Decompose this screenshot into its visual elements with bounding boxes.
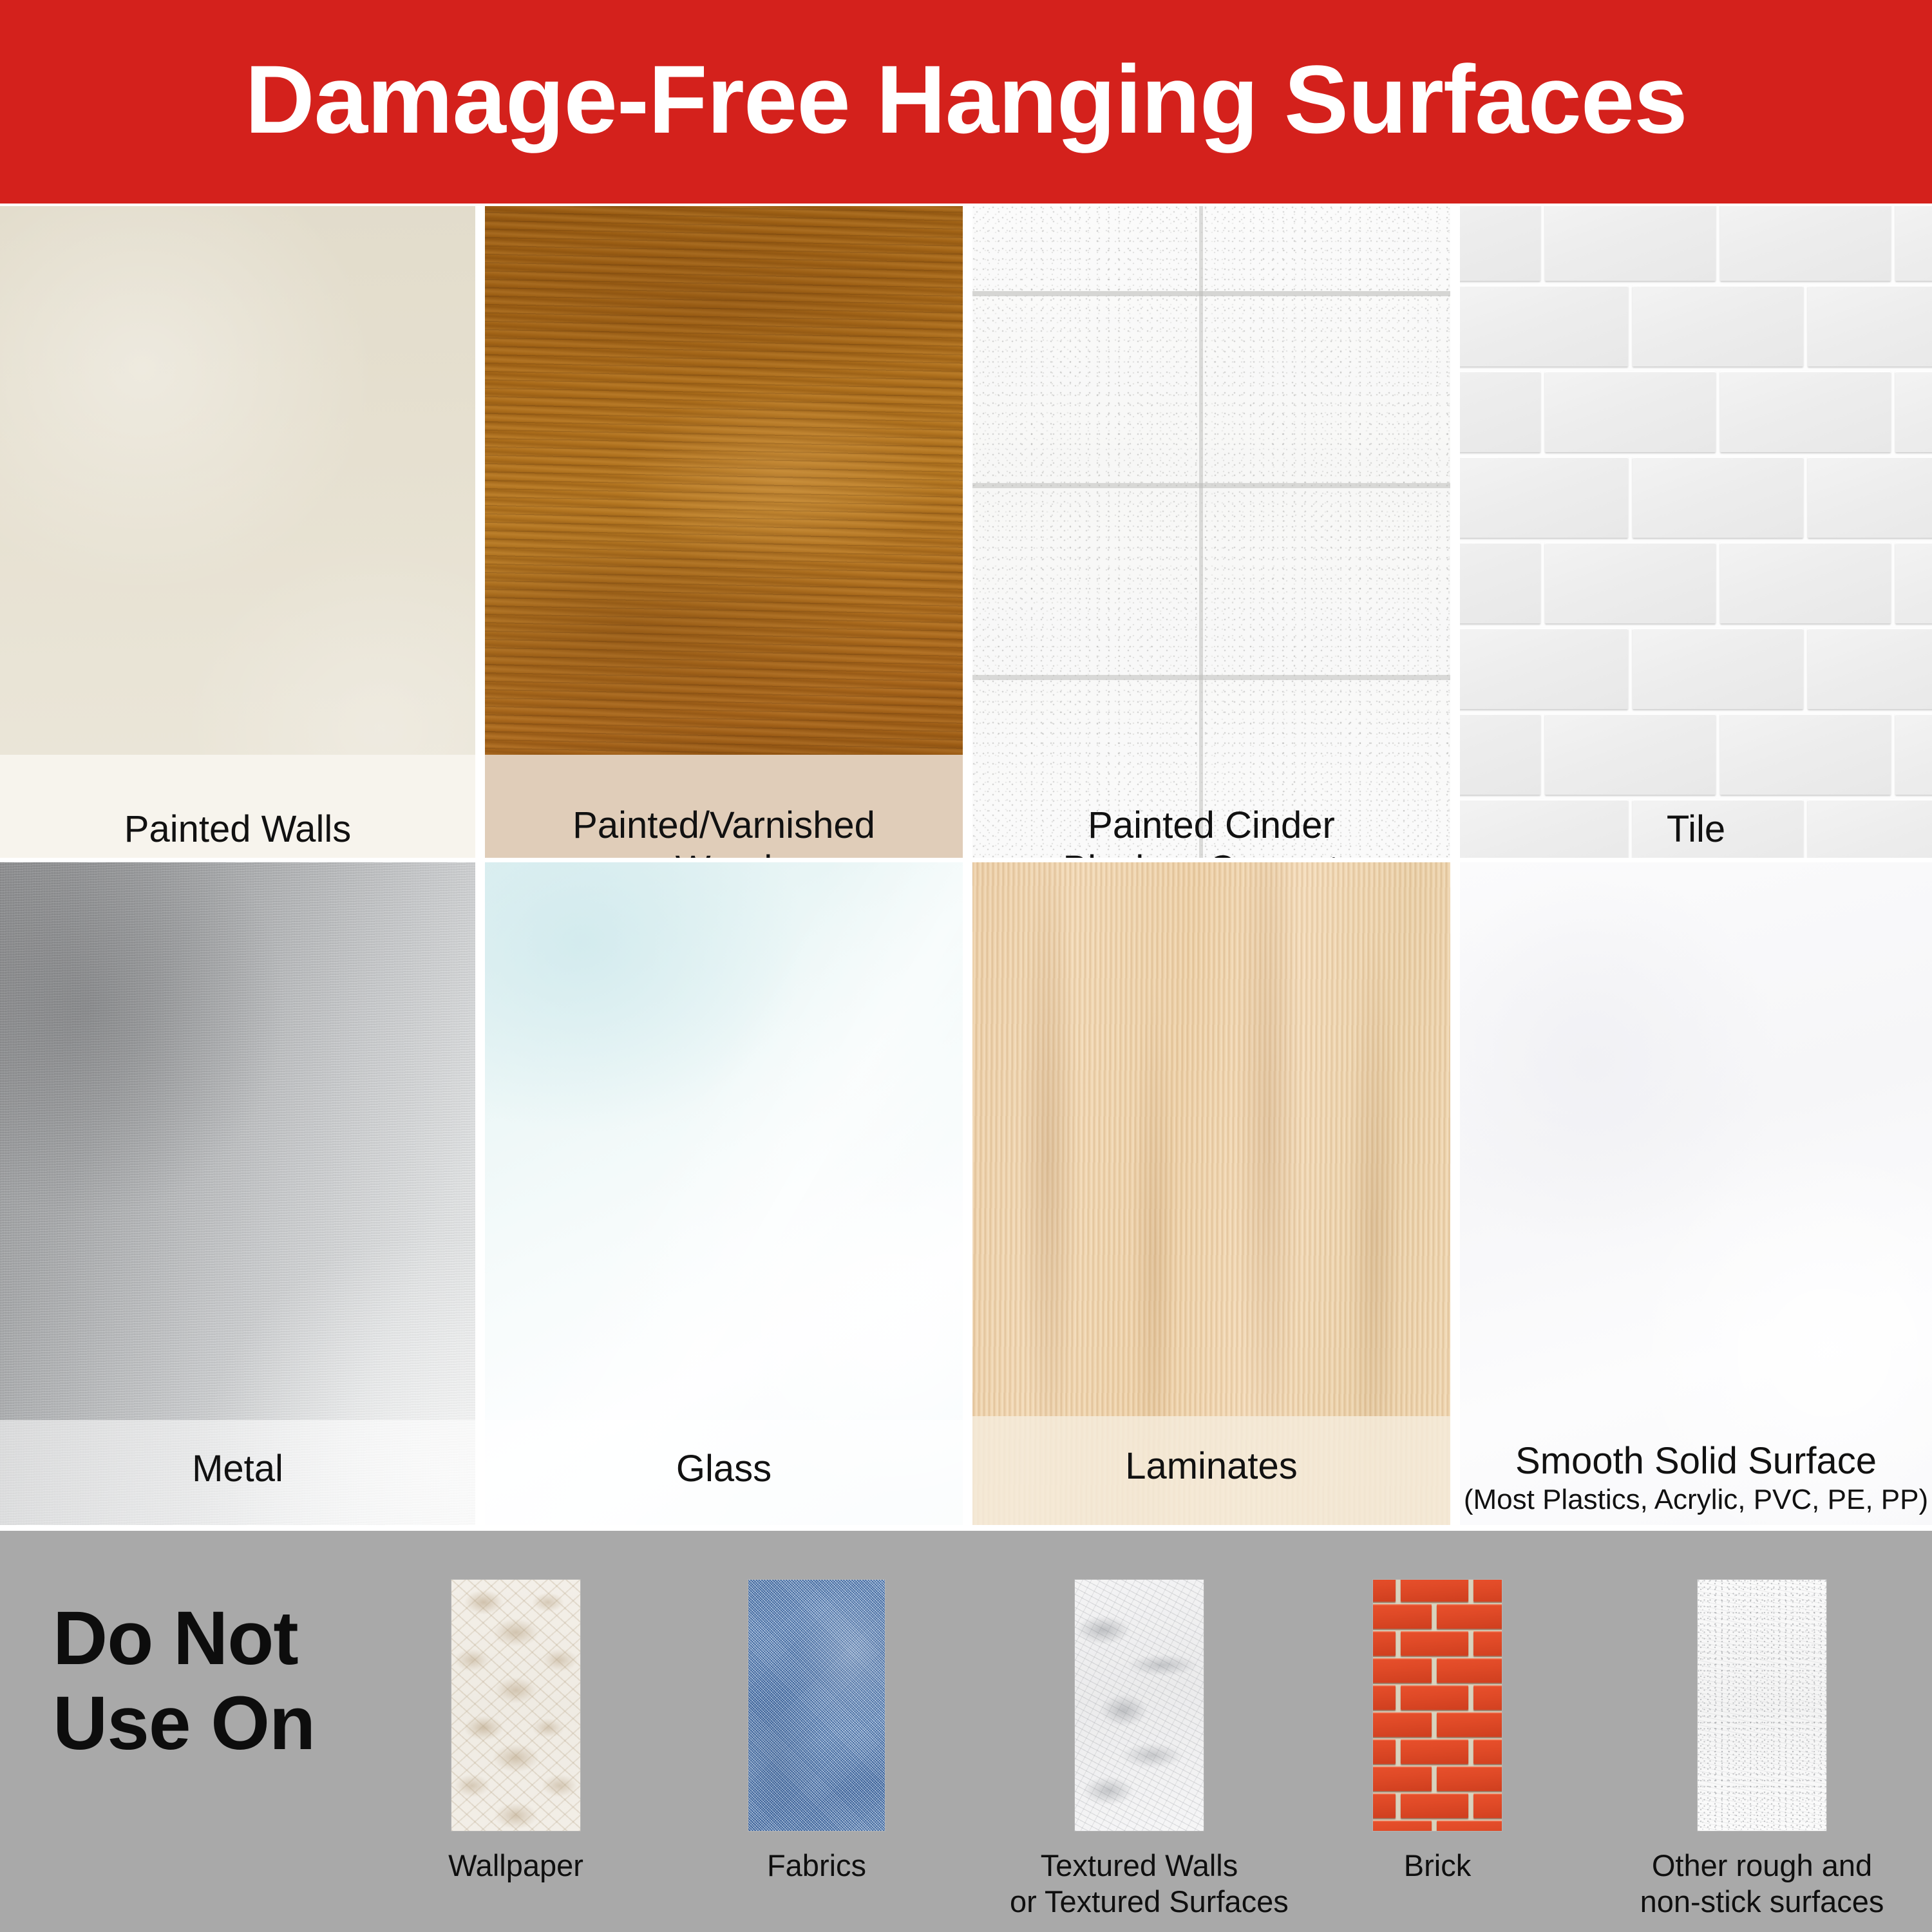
brick-unit [1401, 1794, 1468, 1818]
surface-tile-laminates: Laminates [972, 862, 1450, 1525]
brick-unit [1473, 1631, 1502, 1656]
surface-tile-painted-cinder-block: Painted Cinder Block or Concrete [972, 206, 1450, 858]
surface-label-line1: Painted/Varnished [573, 804, 875, 846]
fabrics-swatch [748, 1580, 885, 1831]
subway-tile-unit [1720, 542, 1891, 623]
brick-row [1373, 1604, 1502, 1634]
brick-unit [1401, 1739, 1468, 1764]
surface-label-line1: Smooth Solid Surface [1515, 1440, 1877, 1482]
subway-tile-unit [1720, 371, 1891, 452]
subway-tile-row [1460, 542, 1932, 627]
subway-tile-unit [1895, 206, 1932, 281]
smooth-solid-white-texture [1460, 862, 1932, 1525]
brick-unit [1473, 1580, 1502, 1602]
subway-tile-unit [1808, 628, 1932, 709]
label-line2: or Textured Surfaces [1010, 1884, 1289, 1918]
painted-cinder-block-texture [972, 206, 1450, 858]
brick-row [1373, 1794, 1502, 1823]
surface-label-line2: Block or Concrete [1063, 848, 1360, 858]
surface-label-varnished-wood: Painted/Varnished Wood [485, 804, 963, 858]
subway-tile-row [1460, 628, 1932, 713]
label-line2: non-stick surfaces [1640, 1884, 1884, 1918]
brick-unit [1373, 1821, 1432, 1831]
subway-tile-unit [1633, 285, 1803, 366]
subway-tile-unit [1460, 457, 1628, 538]
surface-label-laminates: Laminates [972, 1444, 1450, 1488]
brick-unit [1373, 1580, 1396, 1602]
surface-tile-varnished-wood: Painted/Varnished Wood [485, 206, 963, 858]
do-not-use-item-wallpaper: Wallpaper [386, 1580, 645, 1884]
denim-fabric-texture [748, 1580, 885, 1831]
do-not-use-label-brick: Brick [1306, 1848, 1569, 1884]
brick-row [1373, 1739, 1502, 1769]
subway-tile-unit [1895, 714, 1932, 795]
do-not-use-label-textured-walls: Textured Walls or Textured Surfaces [1010, 1848, 1269, 1920]
brick-unit [1373, 1685, 1396, 1710]
brick-unit [1401, 1580, 1468, 1602]
label-line1: Other rough and [1652, 1848, 1872, 1882]
rough-stipple-texture [1698, 1580, 1826, 1831]
surface-label-tile: Tile [1460, 808, 1932, 851]
page-title: Damage-Free Hanging Surfaces [245, 51, 1687, 153]
subway-tile-texture [1460, 206, 1932, 858]
subway-tile-unit [1720, 714, 1891, 795]
do-not-use-title: Do Not Use On [53, 1596, 315, 1766]
do-not-use-item-textured-walls: Textured Walls or Textured Surfaces [1010, 1580, 1269, 1920]
surface-tile-tile: Tile [1460, 206, 1932, 858]
subway-tile-row [1460, 714, 1932, 799]
brick-row [1373, 1766, 1502, 1796]
do-not-use-title-line1: Do Not [53, 1596, 298, 1681]
subway-tile-unit [1460, 714, 1540, 795]
brick-row [1373, 1631, 1502, 1661]
brick-unit [1473, 1739, 1502, 1764]
subway-tile-unit [1545, 206, 1716, 281]
do-not-use-item-rough-surfaces: Other rough and non-stick surfaces [1631, 1580, 1893, 1920]
brick-unit [1373, 1604, 1432, 1629]
subway-tile-unit [1633, 628, 1803, 709]
brick-unit [1373, 1766, 1432, 1791]
brick-row [1373, 1658, 1502, 1688]
brick-unit [1373, 1712, 1432, 1737]
brick-unit [1437, 1604, 1502, 1629]
subway-tile-unit [1460, 542, 1540, 623]
red-brick-texture [1373, 1580, 1502, 1831]
surface-label-line1: Painted Cinder [1088, 804, 1335, 846]
brick-unit [1473, 1685, 1502, 1710]
brick-unit [1373, 1739, 1396, 1764]
brick-swatch [1373, 1580, 1502, 1831]
rough-surfaces-swatch [1698, 1580, 1826, 1831]
surface-label-painted-cinder-block: Painted Cinder Block or Concrete [972, 804, 1450, 858]
subway-tile-unit [1545, 714, 1716, 795]
brick-unit [1437, 1766, 1502, 1791]
surface-label-smooth-solid-surface: Smooth Solid Surface (Most Plastics, Acr… [1460, 1439, 1932, 1517]
subway-tile-unit [1895, 371, 1932, 452]
damask-wallpaper-texture [451, 1580, 580, 1831]
subway-tile-row [1460, 371, 1932, 456]
subway-tile-unit [1808, 285, 1932, 366]
brick-unit [1373, 1631, 1396, 1656]
brick-unit [1437, 1821, 1502, 1831]
subway-tile-row [1460, 206, 1932, 285]
surface-tile-smooth-solid-surface: Smooth Solid Surface (Most Plastics, Acr… [1460, 862, 1932, 1525]
label-line1: Textured Walls [1041, 1848, 1238, 1882]
brick-row [1373, 1685, 1502, 1715]
surface-label-line2: Wood [676, 848, 772, 858]
subway-tile-unit [1460, 371, 1540, 452]
surface-sublabel: (Most Plastics, Acrylic, PVC, PE, PP) [1460, 1483, 1932, 1517]
brick-unit [1373, 1658, 1432, 1683]
subway-tile-unit [1545, 371, 1716, 452]
do-not-use-item-brick: Brick [1306, 1580, 1569, 1884]
brick-row [1373, 1821, 1502, 1831]
subway-tile-unit [1633, 457, 1803, 538]
surface-tile-glass: Glass [485, 862, 963, 1525]
subway-tile-unit [1720, 206, 1891, 281]
brick-unit [1437, 1712, 1502, 1737]
do-not-use-label-fabrics: Fabrics [684, 1848, 949, 1884]
do-not-use-title-line2: Use On [53, 1681, 315, 1766]
brick-unit [1373, 1794, 1396, 1818]
infographic-page: Damage-Free Hanging Surfaces Painted Wal… [0, 0, 1932, 1932]
subway-tile-unit [1808, 457, 1932, 538]
subway-tile-row [1460, 457, 1932, 542]
do-not-use-label-rough-surfaces: Other rough and non-stick surfaces [1631, 1848, 1893, 1920]
brick-row [1373, 1712, 1502, 1742]
header-banner: Damage-Free Hanging Surfaces [0, 0, 1932, 204]
brick-unit [1401, 1631, 1468, 1656]
surface-label-glass: Glass [485, 1447, 963, 1491]
brick-row [1373, 1580, 1502, 1607]
textured-plaster-texture [1075, 1580, 1204, 1831]
surface-tile-painted-walls: Painted Walls [0, 206, 475, 858]
brick-unit [1473, 1794, 1502, 1818]
surface-tile-metal: Metal [0, 862, 475, 1525]
surface-label-painted-walls: Painted Walls [0, 808, 475, 851]
brick-unit [1401, 1685, 1468, 1710]
do-not-use-label-wallpaper: Wallpaper [386, 1848, 645, 1884]
do-not-use-item-fabrics: Fabrics [684, 1580, 949, 1884]
wallpaper-swatch [451, 1580, 580, 1831]
subway-tile-unit [1460, 628, 1628, 709]
subway-tile-unit [1460, 285, 1628, 366]
textured-walls-swatch [1075, 1580, 1204, 1831]
brick-unit [1437, 1658, 1502, 1683]
subway-tile-row [1460, 285, 1932, 370]
subway-tile-unit [1895, 542, 1932, 623]
surface-label-metal: Metal [0, 1447, 475, 1491]
subway-tile-unit [1460, 206, 1540, 281]
subway-tile-unit [1545, 542, 1716, 623]
